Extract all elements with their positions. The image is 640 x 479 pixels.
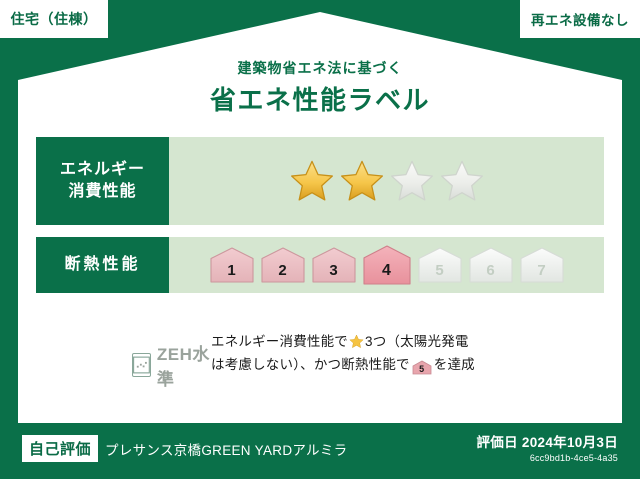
insulation-level-value: 2 [278,262,286,284]
energy-performance-label: エネルギー 消費性能 [36,137,169,225]
energy-performance-label-line1: エネルギー [60,159,145,181]
energy-performance-row: エネルギー 消費性能 [36,137,604,225]
insulation-level-3: 3 [311,246,357,284]
description-line1-post: 3つ（太陽光発電 [365,334,469,349]
zeh-standard-label: ZEH水準 [157,340,211,390]
description-line2-post: を達成 [434,357,475,372]
insulation-level-value: 5 [435,262,443,284]
insulation-level-2: 2 [260,246,306,284]
description-line1-pre: エネルギー消費性能で [211,334,348,349]
star-filled-icon [339,159,385,203]
label-title: 省エネ性能ラベル [0,80,640,117]
insulation-level-4: 4 [362,244,412,286]
insulation-level-scale: 1234567 [169,237,604,293]
insulation-level-badge: 5 [412,360,432,375]
self-evaluation-badge: 自己評価 [22,435,98,462]
achievement-description: エネルギー消費性能で3つ（太陽光発電 は考慮しない）、かつ断熱性能で5を達成 [211,330,604,376]
building-type-tag-label: 住宅（住棟） [11,9,98,29]
insulation-level-5: 5 [417,246,463,284]
zeh-checkbox-icon [132,353,151,377]
insulation-performance-label: 断熱性能 [36,237,169,293]
label-subtitle: 建築物省エネ法に基づく [0,58,640,78]
insulation-level-6: 6 [468,246,514,284]
insulation-level-value: 7 [537,262,545,284]
footer-right-group: 評価日 2024年10月3日 6cc9bd1b-4ce5-4a35 [476,431,618,463]
renewable-equipment-tag-label: 再エネ設備なし [531,9,629,29]
label-id: 6cc9bd1b-4ce5-4a35 [476,453,618,463]
star-rating [169,137,604,225]
insulation-level-1: 1 [209,246,255,284]
renewable-equipment-tag: 再エネ設備なし [520,0,640,38]
zeh-description-block: ZEH水準 エネルギー消費性能で3つ（太陽光発電 は考慮しない）、かつ断熱性能で… [36,330,604,390]
energy-performance-label-line2: 消費性能 [68,181,136,203]
insulation-performance-label-text: 断熱性能 [64,254,140,276]
insulation-performance-row: 断熱性能 1234567 [36,237,604,293]
footer-left-group: 自己評価 プレサンス京橋GREEN YARDアルミラ [22,435,347,462]
insulation-level-value: 1 [227,262,235,284]
energy-performance-label: 住宅（住棟） 再エネ設備なし 建築物省エネ法に基づく 省エネ性能ラベル エネルギ… [0,0,640,479]
building-type-tag: 住宅（住棟） [0,0,108,38]
star-icon [349,334,364,349]
insulation-level-value: 3 [329,262,337,284]
insulation-level-badge-value: 5 [412,360,432,378]
description-line2-pre: は考慮しない）、かつ断熱性能で [211,357,410,372]
insulation-level-value: 4 [382,262,391,286]
star-filled-icon [289,159,335,203]
label-footer: 自己評価 プレサンス京橋GREEN YARDアルミラ 評価日 2024年10月3… [0,423,640,479]
insulation-level-7: 7 [519,246,565,284]
evaluation-date: 評価日 2024年10月3日 [476,431,618,451]
star-empty-icon [439,159,485,203]
star-empty-icon [389,159,435,203]
insulation-level-value: 6 [486,262,494,284]
zeh-standard-mark: ZEH水準 [36,330,211,390]
building-name: プレサンス京橋GREEN YARDアルミラ [105,439,347,459]
